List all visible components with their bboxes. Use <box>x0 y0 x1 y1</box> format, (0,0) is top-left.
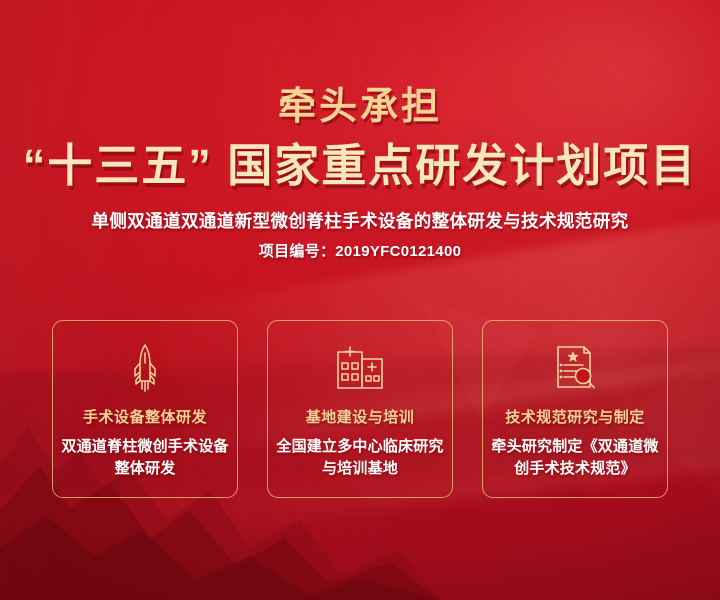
document-search-icon <box>553 343 597 393</box>
project-number: 项目编号：2019YFC0121400 <box>0 242 720 262</box>
highlight-card-title: 基地建设与培训 <box>306 409 415 427</box>
hospital-building-icon <box>335 343 385 393</box>
highlight-card-body: 双通道脊柱微创手术设备整体研发 <box>61 436 229 480</box>
poster-banner: 牵头承担 “十三五” 国家重点研发计划项目 单侧双通道双通道新型微创脊柱手术设备… <box>0 0 720 600</box>
highlight-card-list: 手术设备整体研发 双通道脊柱微创手术设备整体研发 基地建设与培训 <box>52 320 668 500</box>
highlight-card-body: 全国建立多中心临床研究与培训基地 <box>276 436 444 480</box>
highlight-card-body: 牵头研究制定《双通道微创手术技术规范》 <box>491 436 659 480</box>
project-subtitle: 单侧双通道双通道新型微创脊柱手术设备的整体研发与技术规范研究 <box>0 209 720 233</box>
lead-line: 牵头承担 <box>0 86 720 128</box>
highlight-card: 技术规范研究与制定 牵头研究制定《双通道微创手术技术规范》 <box>482 320 668 498</box>
poster-header: 牵头承担 “十三五” 国家重点研发计划项目 单侧双通道双通道新型微创脊柱手术设备… <box>0 0 720 262</box>
highlight-card-title: 手术设备整体研发 <box>83 409 207 427</box>
highlight-card: 基地建设与培训 全国建立多中心临床研究与培训基地 <box>267 320 453 498</box>
page-title: “十三五” 国家重点研发计划项目 <box>0 140 720 192</box>
highlight-card: 手术设备整体研发 双通道脊柱微创手术设备整体研发 <box>52 320 238 498</box>
rocket-icon <box>128 343 162 393</box>
highlight-card-title: 技术规范研究与制定 <box>505 409 645 427</box>
